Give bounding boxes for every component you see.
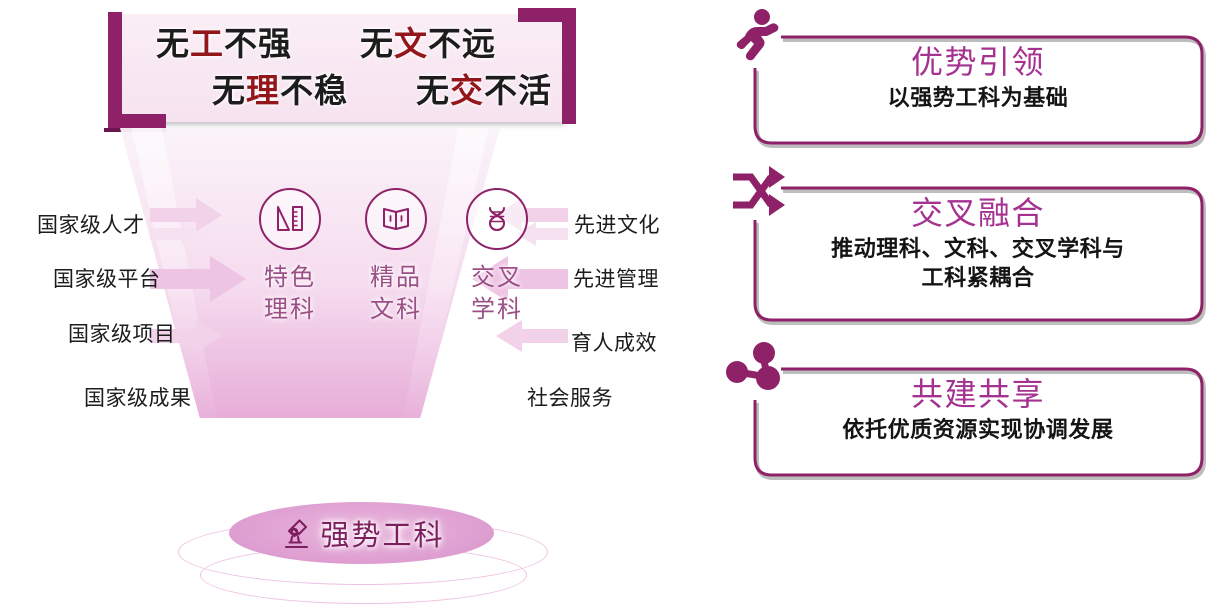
infographic-root: 无工不强 无文不远 无理不稳 无交不活 (0, 0, 1215, 493)
share-nodes-icon (723, 340, 787, 398)
card-subtitle-1-line1: 工科紧耦合 (921, 264, 1034, 293)
card-subtitle-0-line0: 以强势工科为基础 (888, 84, 1069, 113)
card-body-2: 共建共享 依托优质资源实现协调发展 (767, 338, 1189, 483)
input-label-left-3: 国家级成果 (84, 382, 192, 412)
card-subtitle-2-line0: 依托优质资源实现协调发展 (842, 416, 1113, 445)
input-label-right-2: 育人成效 (571, 327, 657, 357)
discipline-label-0-line1: 特色 (230, 262, 350, 294)
ruler-triangle-icon (274, 203, 306, 235)
discipline-circle-1 (365, 188, 427, 250)
dna-helix-icon (481, 203, 513, 235)
inward-arrow-left-1b (150, 222, 202, 246)
slogan-char: 无 (416, 72, 450, 109)
open-book-icon (380, 203, 412, 235)
slogan-char: 不活 (484, 72, 552, 109)
banner-bracket-right (562, 8, 576, 124)
discipline-item-2: 交叉 学科 (437, 188, 557, 325)
input-label-left-2: 国家级项目 (68, 318, 176, 348)
discipline-item-0: 特色 理科 (230, 188, 350, 325)
input-label-right-3: 社会服务 (527, 382, 613, 412)
slogan-highlight-char: 理 (246, 72, 280, 109)
card-title-0: 优势引领 (911, 45, 1045, 80)
slogan-char: 无 (212, 72, 246, 109)
strategy-cards-panel: 优势引领 以强势工科为基础 交叉融合 (715, 0, 1215, 493)
slogan-highlight-char: 工 (190, 25, 224, 62)
shuffle-arrows-icon (731, 164, 789, 218)
left-panel: 无工不强 无文不远 无理不稳 无交不活 (0, 0, 715, 493)
slogan-char: 无 (156, 25, 190, 62)
discipline-circle-2 (466, 188, 528, 250)
slogan-char: 无 (360, 25, 394, 62)
card-title-1: 交叉融合 (911, 196, 1045, 231)
discipline-label-2-line1: 交叉 (437, 262, 557, 294)
funnel-diagram: 强势工科 特色 理科 (0, 128, 715, 493)
slogan-line-1: 无工不强 无文不远 (114, 21, 562, 68)
input-label-right-1: 先进管理 (573, 263, 659, 293)
discipline-label-0: 特色 理科 (230, 262, 350, 325)
card-icon-wrap-1 (731, 164, 789, 223)
running-person-icon (731, 8, 787, 70)
input-label-left-1: 国家级平台 (53, 263, 161, 293)
slogan-char: 不稳 (280, 72, 348, 109)
slogan-char (348, 72, 416, 109)
strategy-card-2[interactable]: 共建共享 依托优质资源实现协调发展 (715, 338, 1207, 483)
slogan-char (292, 25, 360, 62)
banner-text-block: 无工不强 无文不远 无理不稳 无交不活 (114, 14, 562, 122)
card-title-2: 共建共享 (911, 377, 1045, 412)
base-label-group: 强势工科 (229, 502, 494, 564)
slogan-banner: 无工不强 无文不远 无理不稳 无交不活 (104, 8, 576, 128)
discipline-label-2: 交叉 学科 (437, 262, 557, 325)
card-body-0: 优势引领 以强势工科为基础 (767, 6, 1189, 151)
slogan-char: 不远 (428, 25, 496, 62)
discipline-label-2-line2: 学科 (437, 294, 557, 326)
microscope-icon (278, 516, 314, 552)
card-icon-wrap-0 (731, 8, 787, 75)
strategy-card-1[interactable]: 交叉融合 推动理科、文科、交叉学科与 工科紧耦合 (715, 160, 1207, 328)
card-icon-wrap-2 (723, 340, 787, 403)
slogan-line-2: 无理不稳 无交不活 (114, 68, 562, 115)
discipline-label-0-line2: 理科 (230, 294, 350, 326)
input-label-right-0: 先进文化 (574, 209, 660, 239)
base-label-text: 强势工科 (320, 512, 444, 554)
slogan-highlight-char: 文 (394, 25, 428, 62)
slogan-char: 不强 (224, 25, 292, 62)
input-label-left-0: 国家级人才 (37, 209, 145, 239)
discipline-circle-0 (259, 188, 321, 250)
card-body-1: 交叉融合 推动理科、文科、交叉学科与 工科紧耦合 (767, 160, 1189, 328)
card-subtitle-1-line0: 推动理科、文科、交叉学科与 (831, 235, 1125, 264)
strategy-card-0[interactable]: 优势引领 以强势工科为基础 (715, 6, 1207, 151)
slogan-highlight-char: 交 (450, 72, 484, 109)
